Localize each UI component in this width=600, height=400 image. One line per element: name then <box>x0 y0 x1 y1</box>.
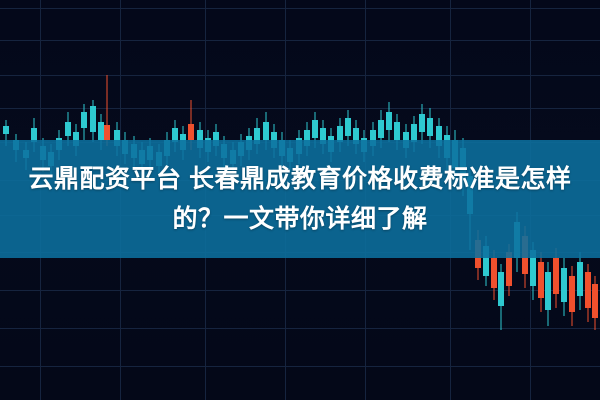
candlestick-body <box>104 125 110 140</box>
candlestick-body <box>345 118 351 136</box>
candlestick-body <box>263 122 269 140</box>
candlestick-body <box>577 262 583 296</box>
candlestick-body <box>545 272 551 310</box>
candlestick-body <box>427 118 433 136</box>
candlestick-body <box>65 122 71 136</box>
candlestick-body <box>592 284 598 318</box>
page-title: 云鼎配资平台 长春鼎成教育价格收费标准是怎样 的？一文带你详细了解 <box>0 159 600 239</box>
title-line-2: 的？一文带你详细了解 <box>8 199 592 239</box>
candlestick-body <box>3 126 9 134</box>
candlestick-body <box>90 106 96 132</box>
candlestick-body <box>419 114 425 132</box>
candlestick-body <box>378 120 384 138</box>
candlestick-body <box>81 112 87 128</box>
candlestick-body <box>538 262 544 298</box>
candlestick-body <box>498 272 504 306</box>
candlestick-body <box>188 124 194 140</box>
screenshot-canvas: 云鼎配资平台 长春鼎成教育价格收费标准是怎样 的？一文带你详细了解 <box>0 0 600 400</box>
candlestick-body <box>561 268 567 302</box>
candlestick-body <box>553 258 559 294</box>
title-banner-overlay: 云鼎配资平台 长春鼎成教育价格收费标准是怎样 的？一文带你详细了解 <box>0 140 600 258</box>
title-line-1: 云鼎配资平台 长春鼎成教育价格收费标准是怎样 <box>8 159 592 199</box>
candlestick-body <box>394 122 400 140</box>
candlestick-body <box>386 112 392 130</box>
candlestick-body <box>569 276 575 312</box>
candlestick-body <box>491 258 497 288</box>
candlestick-body <box>585 272 591 308</box>
candlestick-body <box>312 120 318 138</box>
